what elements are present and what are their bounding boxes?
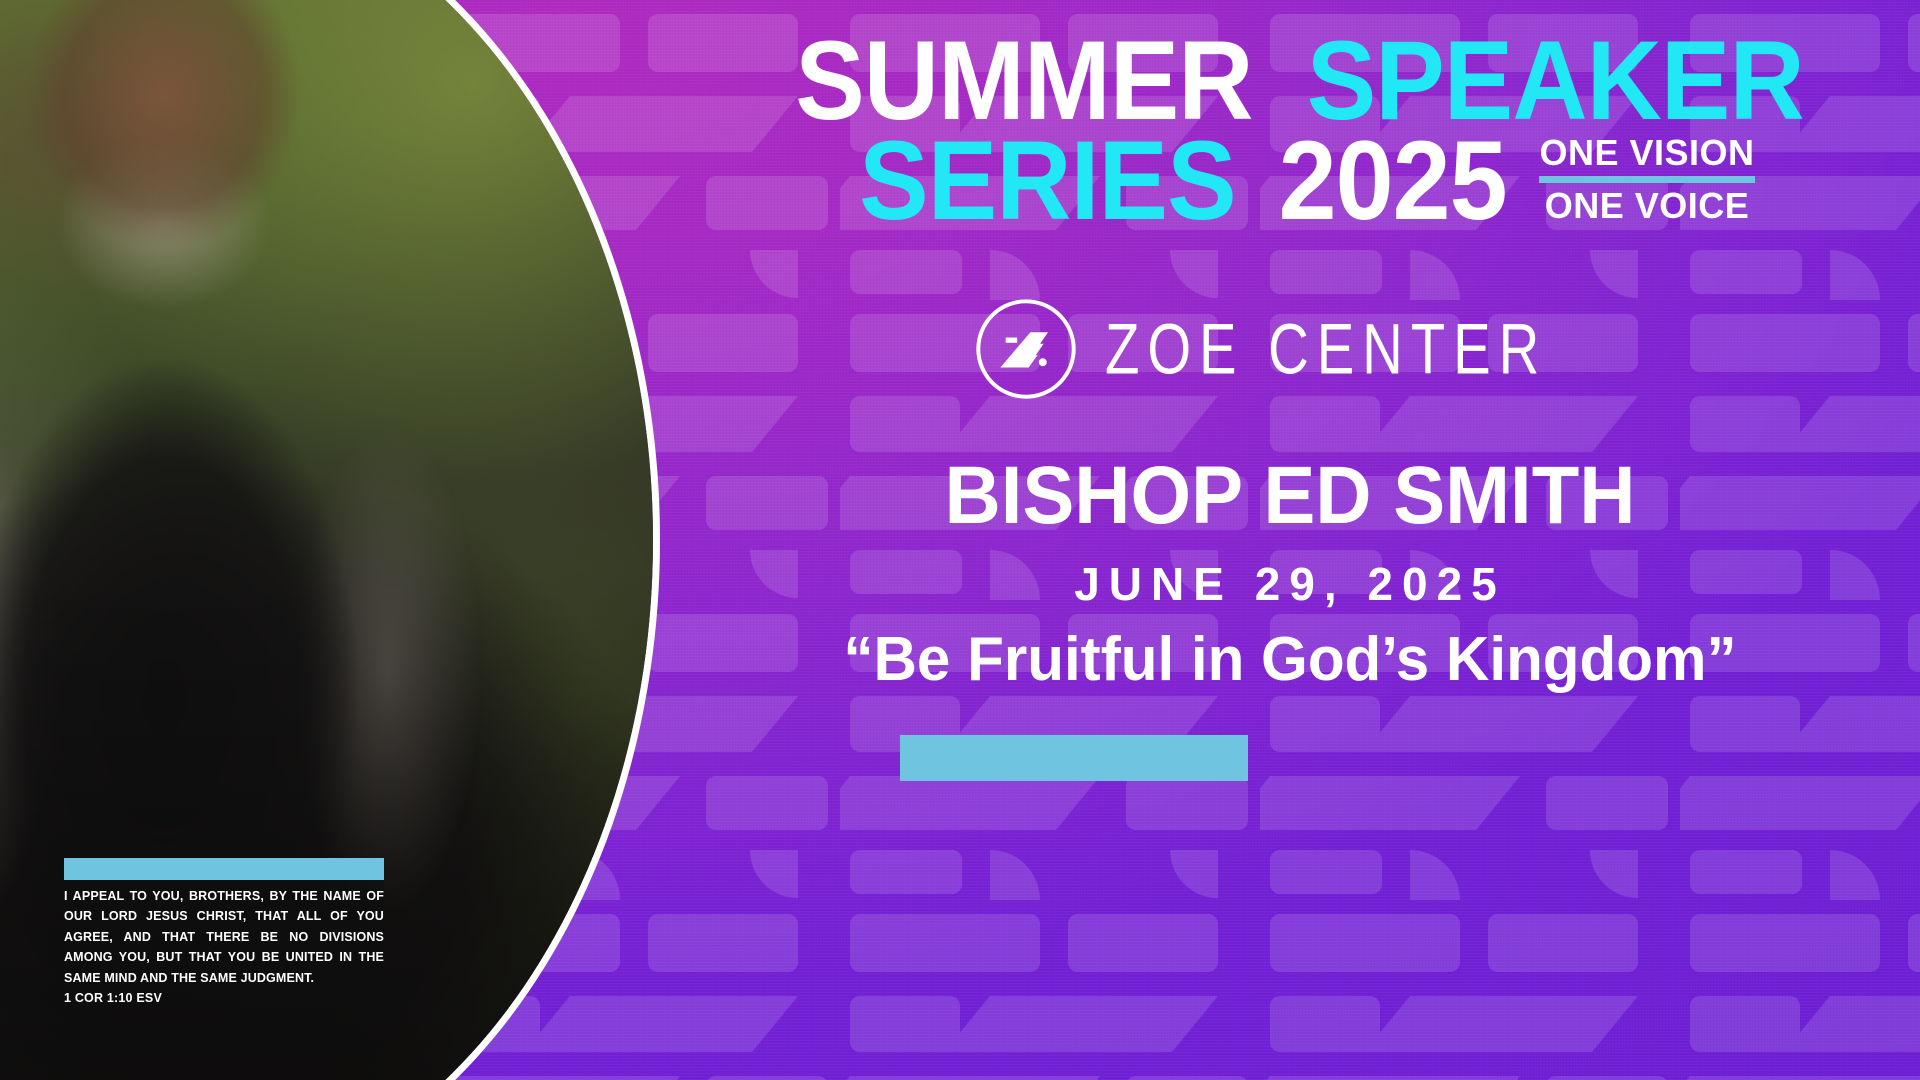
speaker-name: BISHOP ED SMITH [692,455,1889,537]
speaker-series-poster: I APPEAL TO YOU, BROTHERS, BY THE NAME O… [0,0,1920,1080]
headline-word-series: SERIES [860,134,1236,228]
cta-placeholder-bar [900,735,1248,781]
speaker-topic: “Be Fruitful in God’s Kingdom” [679,627,1901,693]
scripture-accent-bar [64,858,384,880]
poster-content: SUMMER SPEAKER SERIES 2025 ONE VISION ON… [660,0,1920,1080]
zoe-center-logo: ZOE CENTER [660,296,1920,402]
tagline-block: ONE VISION ONE VOICE [1539,135,1754,228]
headline-word-speaker: SPEAKER [1306,34,1803,128]
headline-row-1: SUMMER SPEAKER [680,34,1920,128]
scripture-reference: 1 COR 1:10 ESV [64,988,384,1008]
speaker-block: BISHOP ED SMITH JUNE 29, 2025 “Be Fruitf… [660,455,1920,693]
tagline-divider [1539,176,1754,183]
tagline-one-voice: ONE VOICE [1539,188,1754,225]
headline-word-year: 2025 [1279,134,1507,228]
speaker-date: JUNE 29, 2025 [660,561,1920,607]
zoe-center-wordmark: ZOE CENTER [1105,308,1547,391]
scripture-text: I APPEAL TO YOU, BROTHERS, BY THE NAME O… [64,886,384,989]
headline-word-summer: SUMMER [795,34,1252,128]
scripture-quote-block: I APPEAL TO YOU, BROTHERS, BY THE NAME O… [64,858,384,1009]
zoe-z-monogram-icon [973,296,1079,402]
scripture-body: I APPEAL TO YOU, BROTHERS, BY THE NAME O… [64,880,384,1009]
headline-block: SUMMER SPEAKER SERIES 2025 ONE VISION ON… [680,34,1920,228]
headline-row-2: SERIES 2025 ONE VISION ONE VOICE [680,134,1920,228]
